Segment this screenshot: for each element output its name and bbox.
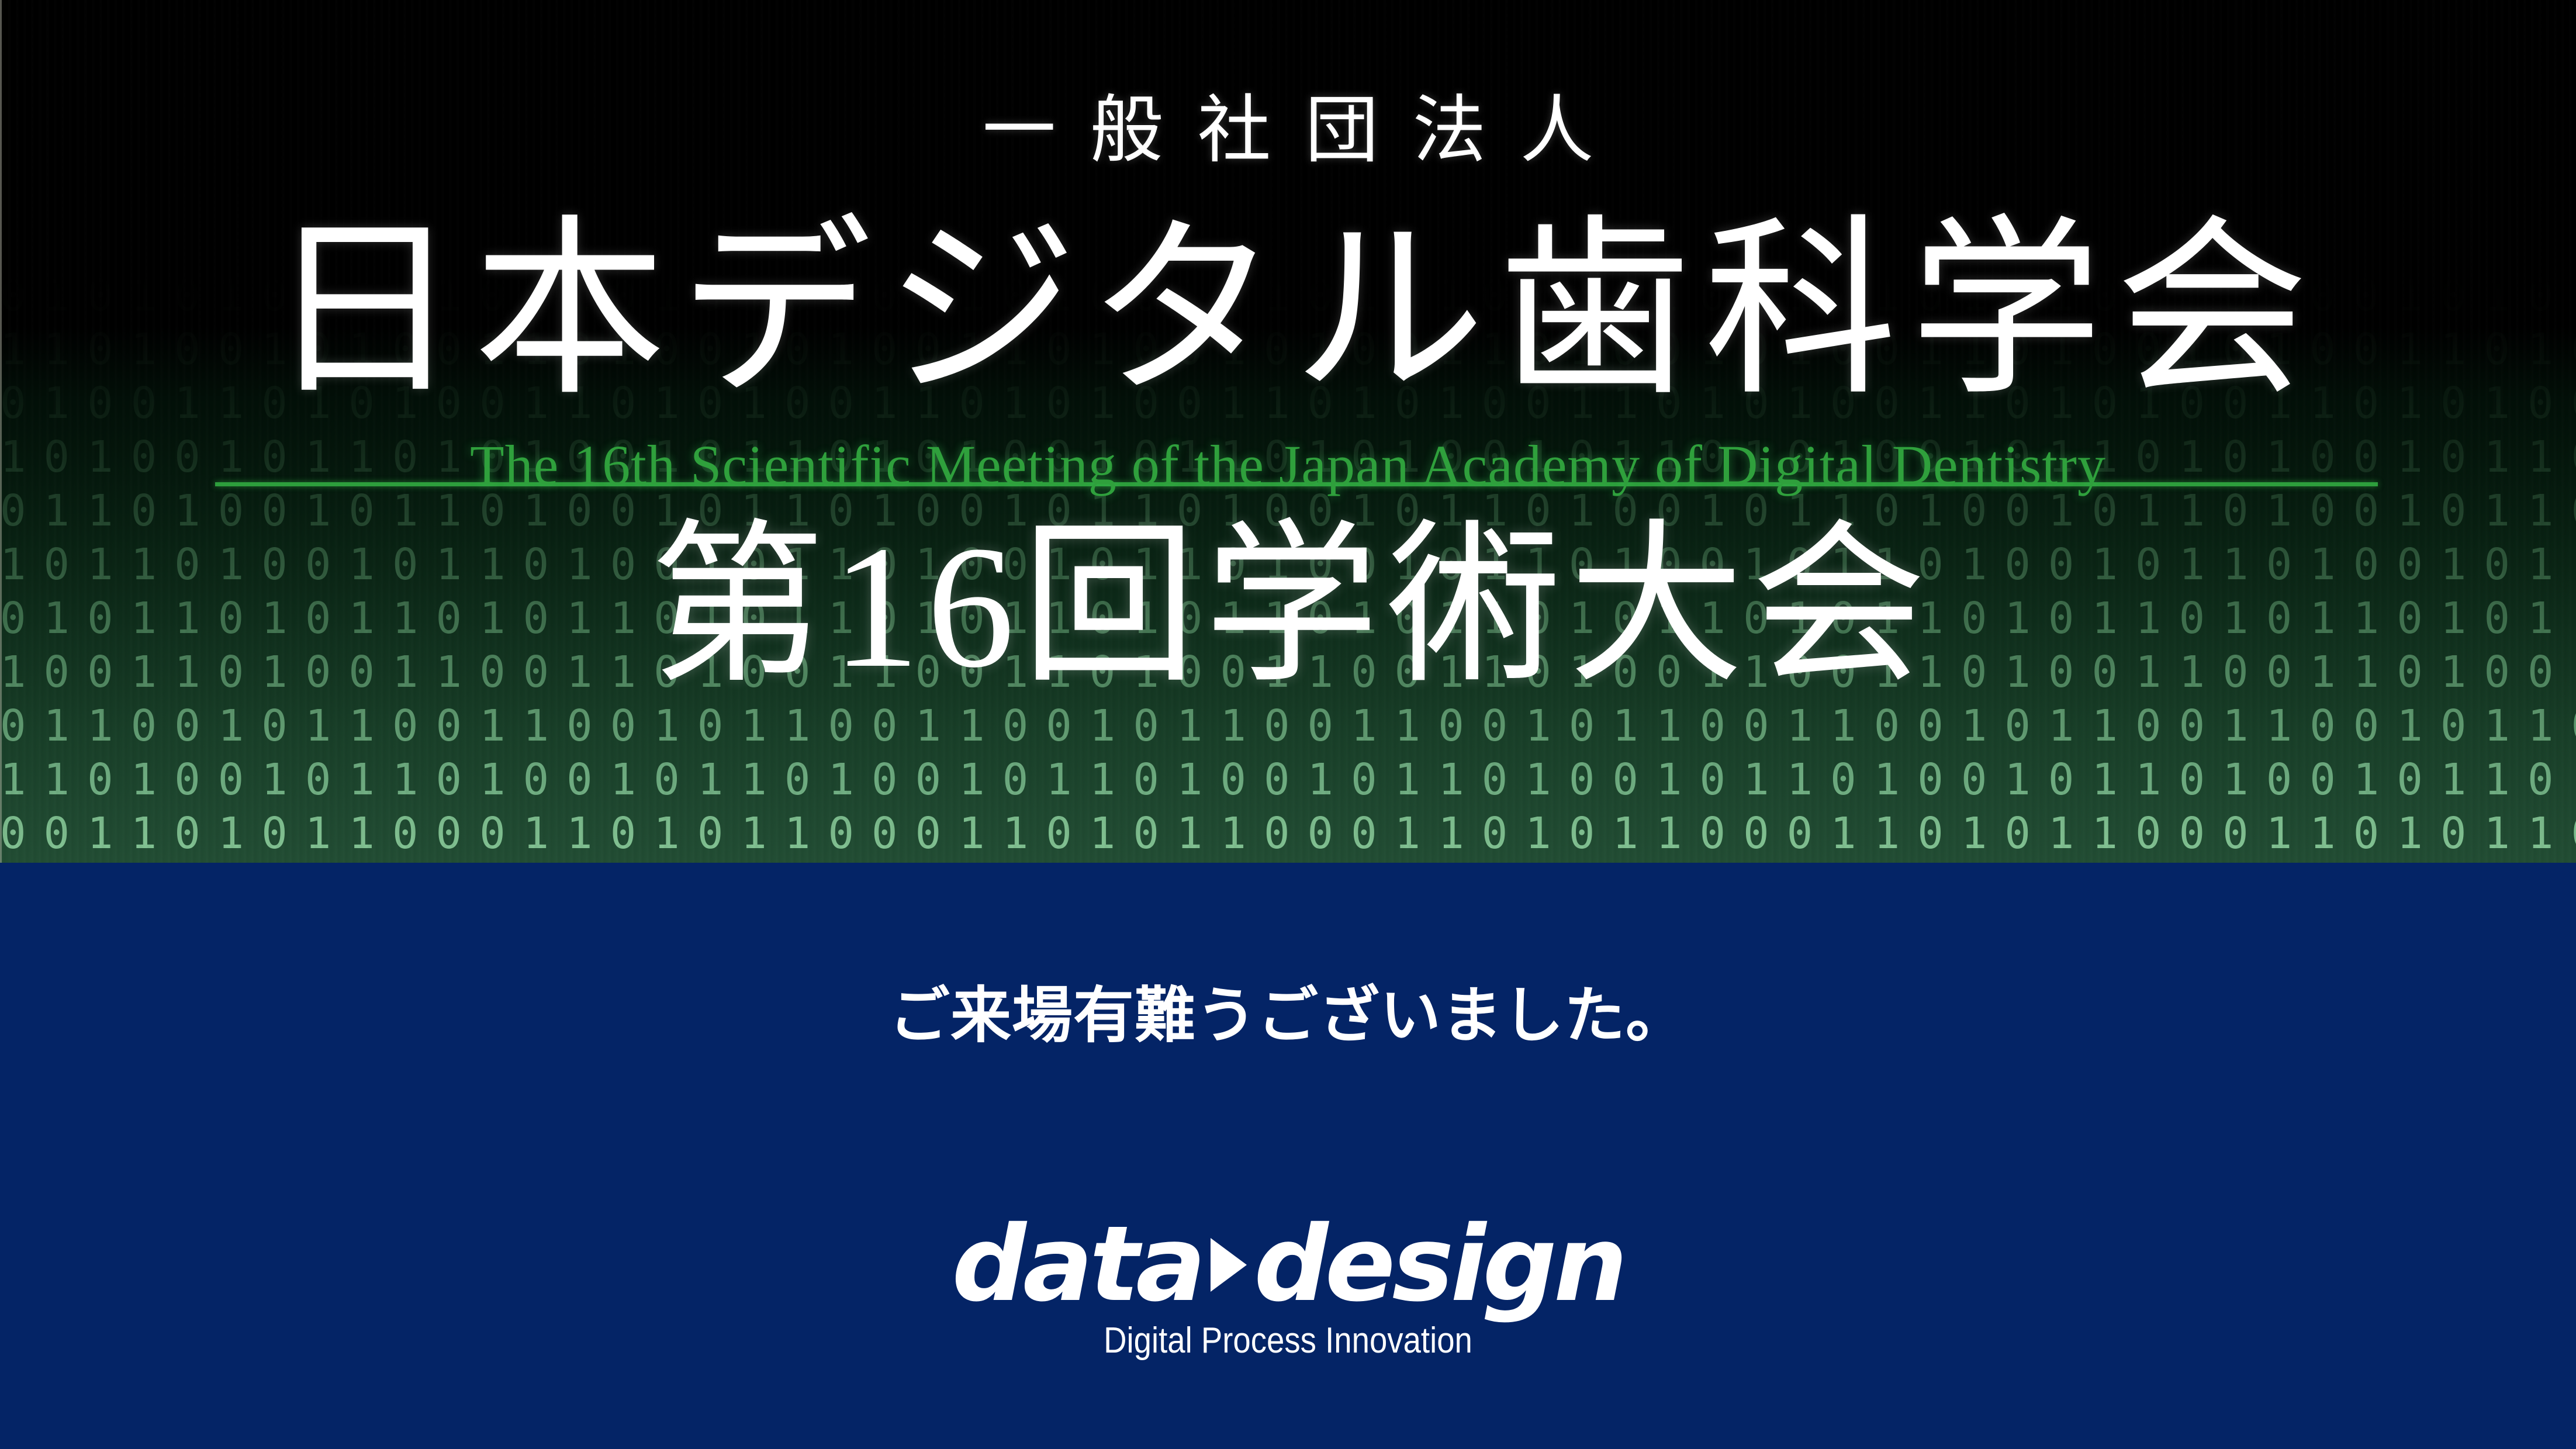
hero-text-group: 一般社団法人 日本デジタル歯科学会 The 16th Scientific Me… <box>0 0 2576 863</box>
english-subtitle: The 16th Scientific Meeting of the Japan… <box>0 434 2576 497</box>
blue-message-panel: ご来場有難うございました。 data design Digital Proces… <box>0 863 2576 1449</box>
organization-line: 一般社団法人 <box>0 88 2576 175</box>
logo-word-data: data <box>952 1212 1203 1316</box>
english-subtitle-group: The 16th Scientific Meeting of the Japan… <box>0 434 2576 498</box>
play-triangle-icon <box>1211 1238 1247 1292</box>
logo-wordmark: data design <box>952 1212 1624 1316</box>
society-name-title: 日本デジタル歯科学会 <box>0 203 2576 421</box>
thanks-message: ご来場有難うございました。 <box>0 977 2576 1053</box>
page-root: 0110110110100101101011010011010110101101… <box>0 0 2576 1449</box>
hero-banner: 0110110110100101101011010011010110101101… <box>0 0 2576 863</box>
data-design-logo: data design Digital Process Innovation <box>0 1212 2576 1362</box>
logo-word-design: design <box>1254 1212 1624 1316</box>
logo-tagline: Digital Process Innovation <box>154 1320 2421 1362</box>
meeting-title: 第16回学術大会 <box>0 507 2576 706</box>
